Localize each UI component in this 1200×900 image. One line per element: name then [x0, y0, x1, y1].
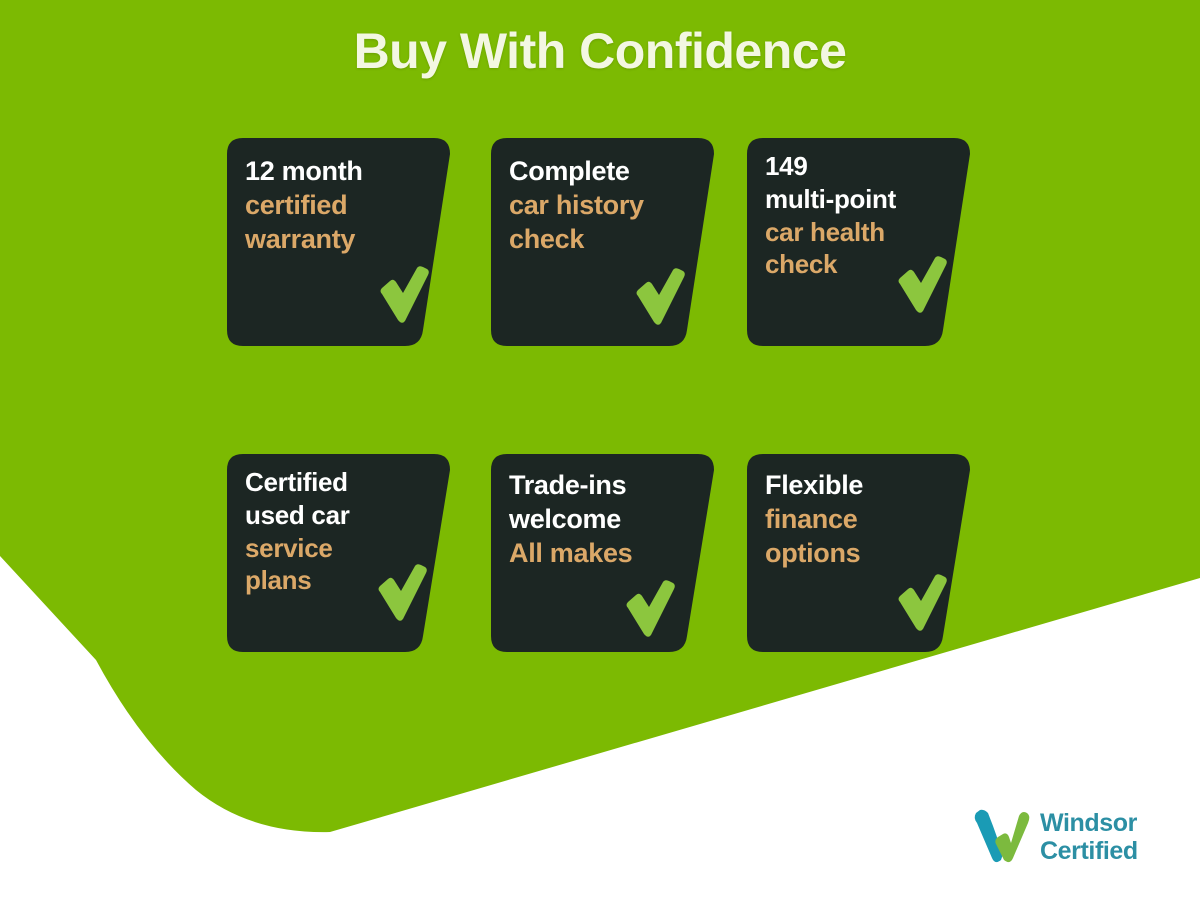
feature-card-car-history-check[interactable]: Complete car history check: [491, 138, 714, 346]
brand-name-line-2: Certified: [1040, 837, 1138, 865]
card-line: Complete: [509, 154, 670, 188]
card-line: service: [245, 532, 414, 565]
windsor-w-icon: [970, 808, 1034, 868]
check-mark-icon: [377, 266, 429, 324]
feature-card-certified-warranty[interactable]: 12 month certified warranty: [227, 138, 450, 346]
card-line: warranty: [245, 222, 406, 256]
card-text-block: 12 month certified warranty: [245, 154, 406, 256]
card-line: car health: [765, 216, 934, 249]
feature-card-finance-options[interactable]: Flexible finance options: [747, 454, 970, 652]
card-line: 149: [765, 150, 934, 183]
card-line: check: [509, 222, 670, 256]
check-mark-icon: [623, 580, 675, 638]
check-mark-icon: [895, 256, 947, 314]
brand-name-line-1: Windsor: [1040, 809, 1138, 837]
card-line: options: [765, 536, 926, 570]
card-line: finance: [765, 502, 926, 536]
card-line: welcome: [509, 502, 670, 536]
card-text-block: Trade-ins welcome All makes: [509, 468, 670, 570]
feature-row-bottom: Certified used car service plans Trade-i…: [227, 454, 987, 674]
card-line: certified: [245, 188, 406, 222]
card-line: used car: [245, 499, 414, 532]
page-title: Buy With Confidence: [0, 24, 1200, 79]
brand-wordmark: Windsor Certified: [1040, 809, 1138, 865]
feature-card-service-plans[interactable]: Certified used car service plans: [227, 454, 450, 652]
card-line: car history: [509, 188, 670, 222]
poster-canvas: Buy With Confidence 12 month certified w…: [0, 0, 1200, 900]
feature-card-trade-ins[interactable]: Trade-ins welcome All makes: [491, 454, 714, 652]
card-line: Flexible: [765, 468, 926, 502]
check-mark-icon: [375, 564, 427, 622]
check-mark-icon: [633, 268, 685, 326]
card-line: Certified: [245, 466, 414, 499]
card-line: All makes: [509, 536, 670, 570]
check-mark-icon: [895, 574, 947, 632]
card-line: 12 month: [245, 154, 406, 188]
card-line: multi-point: [765, 183, 934, 216]
feature-card-grid: 12 month certified warranty Complete car…: [227, 138, 987, 674]
card-text-block: Flexible finance options: [765, 468, 926, 570]
brand-logo[interactable]: Windsor Certified: [970, 808, 1160, 870]
feature-row-top: 12 month certified warranty Complete car…: [227, 138, 987, 400]
card-line: Trade-ins: [509, 468, 670, 502]
feature-card-multi-point-health-check[interactable]: 149 multi-point car health check: [747, 138, 970, 346]
card-text-block: Complete car history check: [509, 154, 670, 256]
